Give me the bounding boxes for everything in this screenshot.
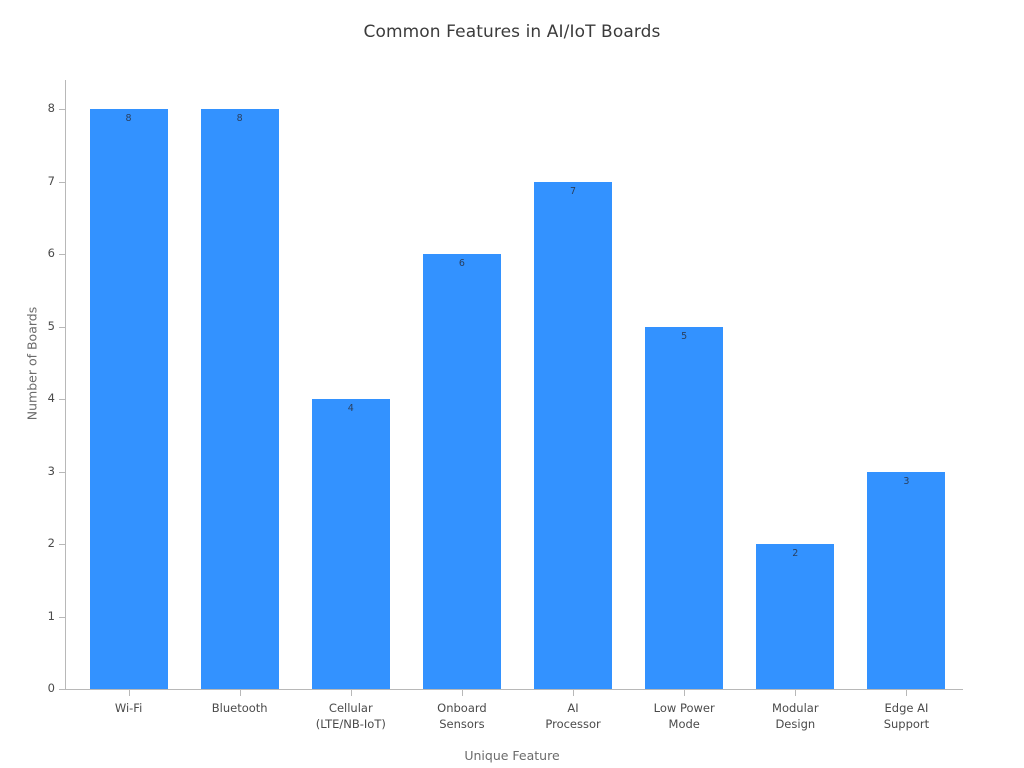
y-axis-tick-label: 3 bbox=[17, 466, 55, 478]
x-axis-tick bbox=[129, 690, 130, 696]
x-axis-tick bbox=[351, 690, 352, 696]
x-axis-title: Unique Feature bbox=[0, 748, 1024, 763]
y-axis-tick-label-wrap: 4 bbox=[10, 393, 55, 405]
bar[interactable]: 2 bbox=[756, 544, 834, 689]
y-axis-tick-label: 7 bbox=[17, 176, 55, 188]
x-axis-tick-label: Bluetooth bbox=[184, 700, 295, 716]
chart-title: Common Features in AI/IoT Boards bbox=[0, 22, 1024, 42]
x-axis-tick-label: Onboard Sensors bbox=[406, 700, 517, 732]
bar-value-label: 3 bbox=[867, 477, 945, 487]
x-axis-tick bbox=[795, 690, 796, 696]
y-axis-tick-label-wrap: 8 bbox=[10, 103, 55, 115]
y-axis-tick-label: 6 bbox=[17, 248, 55, 260]
y-axis-tick bbox=[59, 399, 65, 400]
y-axis-tick-label: 1 bbox=[17, 611, 55, 623]
y-axis-tick-label-wrap: 2 bbox=[10, 538, 55, 550]
y-axis-tick-label: 2 bbox=[17, 538, 55, 550]
y-axis-tick-label: 0 bbox=[17, 683, 55, 695]
y-axis-tick bbox=[59, 544, 65, 545]
bar-value-label: 2 bbox=[756, 549, 834, 559]
x-axis-tick-label: Wi-Fi bbox=[73, 700, 184, 716]
bar-value-label: 8 bbox=[201, 114, 279, 124]
y-axis-title: Number of Boards bbox=[25, 264, 40, 464]
x-axis-tick bbox=[240, 690, 241, 696]
y-axis-tick-label: 4 bbox=[17, 393, 55, 405]
y-axis-tick-label: 5 bbox=[17, 321, 55, 333]
y-axis-tick-label-wrap: 7 bbox=[10, 176, 55, 188]
y-axis-tick bbox=[59, 254, 65, 255]
x-axis-tick-label: Edge AI Support bbox=[851, 700, 962, 732]
y-axis-tick-label-wrap: 1 bbox=[10, 611, 55, 623]
x-axis-tick-label: Cellular (LTE/NB-IoT) bbox=[295, 700, 406, 732]
x-axis-tick-label: Low Power Mode bbox=[629, 700, 740, 732]
bar[interactable]: 8 bbox=[201, 109, 279, 689]
y-axis-spine bbox=[65, 80, 66, 690]
x-axis-tick bbox=[462, 690, 463, 696]
x-axis-tick bbox=[906, 690, 907, 696]
x-axis-spine bbox=[65, 689, 963, 690]
x-axis-tick-label: AI Processor bbox=[518, 700, 629, 732]
bar-value-label: 4 bbox=[312, 404, 390, 414]
y-axis-tick bbox=[59, 689, 65, 690]
bar[interactable]: 5 bbox=[645, 327, 723, 690]
y-axis-tick-label: 8 bbox=[17, 103, 55, 115]
y-axis-tick bbox=[59, 182, 65, 183]
x-axis-tick bbox=[573, 690, 574, 696]
x-axis-tick bbox=[684, 690, 685, 696]
y-axis-tick bbox=[59, 109, 65, 110]
y-axis-tick bbox=[59, 327, 65, 328]
y-axis-tick-label-wrap: 0 bbox=[10, 683, 55, 695]
bar-value-label: 7 bbox=[534, 187, 612, 197]
y-axis-tick-label-wrap: 6 bbox=[10, 248, 55, 260]
bar[interactable]: 8 bbox=[90, 109, 168, 689]
bar[interactable]: 4 bbox=[312, 399, 390, 689]
y-axis-tick-label-wrap: 3 bbox=[10, 466, 55, 478]
bar[interactable]: 7 bbox=[534, 182, 612, 690]
bar[interactable]: 6 bbox=[423, 254, 501, 689]
y-axis-tick-label-wrap: 5 bbox=[10, 321, 55, 333]
bar-value-label: 5 bbox=[645, 332, 723, 342]
y-axis-tick bbox=[59, 617, 65, 618]
bar[interactable]: 3 bbox=[867, 472, 945, 690]
bar-value-label: 6 bbox=[423, 259, 501, 269]
bar-chart-figure: Common Features in AI/IoT Boards Number … bbox=[0, 0, 1024, 768]
y-axis-tick bbox=[59, 472, 65, 473]
bar-value-label: 8 bbox=[90, 114, 168, 124]
x-axis-tick-label: Modular Design bbox=[740, 700, 851, 732]
